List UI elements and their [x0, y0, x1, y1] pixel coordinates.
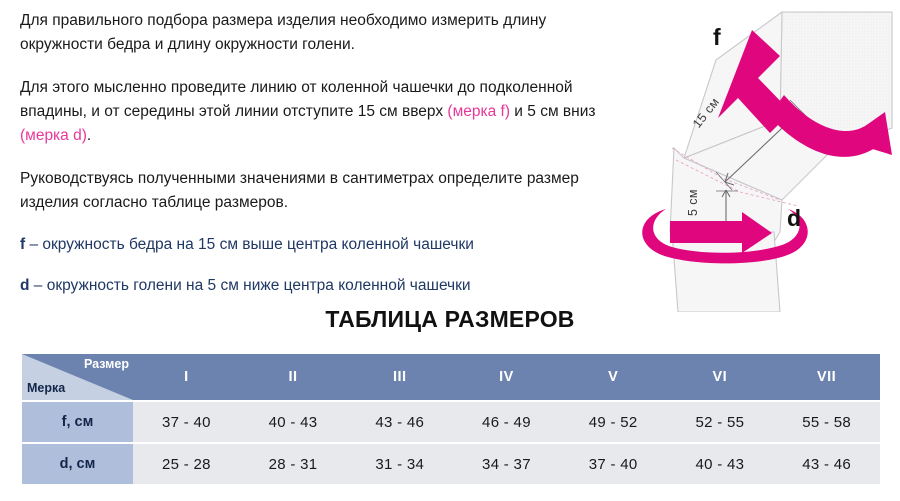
measure-definition-f: f – окружность бедра на 15 см выше центр…	[20, 234, 620, 256]
instruction-paragraph-3: Руководствуясь полученными значениями в …	[20, 167, 620, 215]
corner-measure-label: Мерка	[27, 381, 65, 395]
cell-d-2: 28 - 31	[240, 444, 347, 484]
size-column-header-5: V	[560, 354, 667, 400]
instruction-paragraph-2: Для этого мысленно проведите линию от ко…	[20, 76, 620, 148]
instructions-block: Для правильного подбора размера изделия …	[20, 9, 620, 316]
measure-f-note: (мерка f)	[447, 103, 510, 120]
cell-f-5: 49 - 52	[560, 402, 667, 442]
instruction-paragraph-2-text-2: и 5 см вниз	[510, 103, 595, 120]
size-column-header-6: VI	[667, 354, 774, 400]
size-table-title: ТАБЛИЦА РАЗМЕРОВ	[0, 306, 900, 333]
size-column-header-4: IV	[453, 354, 560, 400]
size-table-header-row: Размер Мерка I II III IV V VI VII	[22, 354, 880, 400]
cell-f-3: 43 - 46	[346, 402, 453, 442]
size-table: Размер Мерка I II III IV V VI VII f, см …	[22, 352, 880, 486]
cell-f-7: 55 - 58	[773, 402, 880, 442]
table-row: d, см 25 - 28 28 - 31 31 - 34 34 - 37 37…	[22, 444, 880, 484]
measure-f-description: – окружность бедра на 15 см выше центра …	[25, 236, 474, 253]
dimension-label-5cm: 5 см	[686, 189, 700, 216]
cell-f-1: 37 - 40	[133, 402, 240, 442]
cell-d-6: 40 - 43	[667, 444, 774, 484]
cell-d-4: 34 - 37	[453, 444, 560, 484]
measure-d-note: (мерка d)	[20, 127, 87, 144]
measure-definition-d: d – окружность голени на 5 см ниже центр…	[20, 275, 620, 297]
cell-d-7: 43 - 46	[773, 444, 880, 484]
illustration-label-d: d	[787, 207, 801, 230]
size-column-header-7: VII	[773, 354, 880, 400]
measure-d-description: – окружность голени на 5 см ниже центра …	[29, 277, 470, 294]
table-row: f, см 37 - 40 40 - 43 43 - 46 46 - 49 49…	[22, 402, 880, 442]
cell-d-1: 25 - 28	[133, 444, 240, 484]
size-column-header-1: I	[133, 354, 240, 400]
cell-d-5: 37 - 40	[560, 444, 667, 484]
cell-f-4: 46 - 49	[453, 402, 560, 442]
row-label-d: d, см	[22, 444, 133, 484]
size-table-corner-cell: Размер Мерка	[22, 354, 133, 400]
size-column-header-3: III	[346, 354, 453, 400]
leg-measurement-illustration: f d 15 см 5 см	[630, 0, 900, 312]
illustration-label-f: f	[713, 26, 721, 49]
cell-d-3: 31 - 34	[346, 444, 453, 484]
size-guide-page: Для правильного подбора размера изделия …	[0, 0, 900, 501]
row-label-f: f, см	[22, 402, 133, 442]
corner-size-label: Размер	[84, 357, 129, 371]
leg-silhouette	[670, 12, 892, 312]
cell-f-2: 40 - 43	[240, 402, 347, 442]
instruction-paragraph-2-text-3: .	[87, 127, 91, 144]
cell-f-6: 52 - 55	[667, 402, 774, 442]
instruction-paragraph-1: Для правильного подбора размера изделия …	[20, 9, 620, 57]
size-column-header-2: II	[240, 354, 347, 400]
leg-diagram-svg	[630, 0, 900, 312]
